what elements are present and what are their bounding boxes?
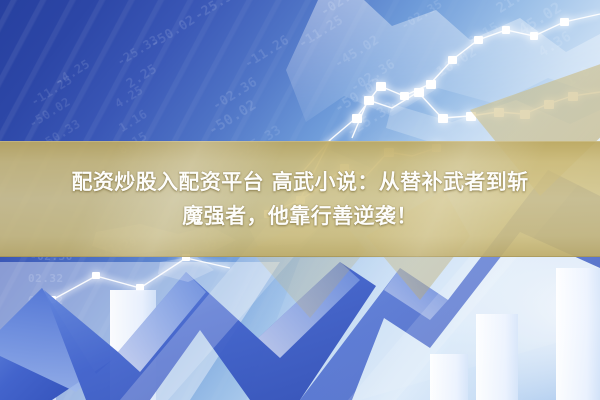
headline-block: 配资炒股入配资平台 高武小说：从替补武者到斩 魔强者，他靠行善逆袭！ bbox=[0, 141, 600, 257]
headline-line-2: 魔强者，他靠行善逆袭！ bbox=[182, 202, 417, 230]
stock-news-banner: -02.3621.05-25.36-02.3545.02-50.02-11.25… bbox=[0, 0, 600, 400]
headline-line-1: 配资炒股入配资平台 高武小说：从替补武者到斩 bbox=[71, 168, 528, 196]
